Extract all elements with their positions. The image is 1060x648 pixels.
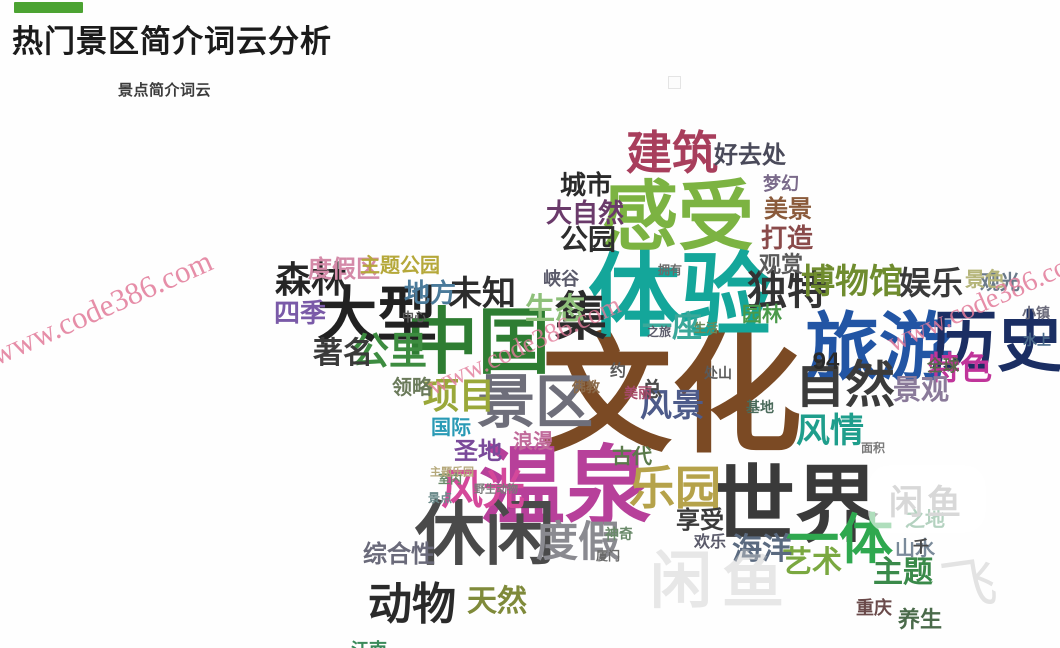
wordcloud-word[interactable]: 观赏 xyxy=(759,254,803,276)
accent-bar xyxy=(14,2,83,13)
wordcloud-word[interactable]: 城市 xyxy=(560,172,612,198)
wordcloud-word[interactable]: 面积 xyxy=(861,442,885,454)
wordcloud-word[interactable]: 天然 xyxy=(467,587,527,617)
wordcloud-word[interactable]: 乐园 xyxy=(629,465,721,511)
wordcloud-word[interactable]: 娱乐 xyxy=(899,267,963,299)
wordcloud-word[interactable]: 打造 xyxy=(761,225,813,251)
wordcloud-word[interactable]: 自然 xyxy=(795,360,895,410)
wordcloud-word[interactable]: 领略 xyxy=(392,378,432,398)
wordcloud-word[interactable]: 处山 xyxy=(704,366,732,380)
wordcloud-word[interactable]: 厦门 xyxy=(596,550,620,562)
wordcloud-word[interactable]: 古代 xyxy=(612,447,652,467)
wordcloud-word[interactable]: 水上 xyxy=(1023,333,1051,347)
wordcloud-word[interactable]: 项目 xyxy=(423,378,495,414)
wordcloud-word[interactable]: 野生动物 xyxy=(474,485,518,496)
wordcloud-word[interactable]: 建筑 xyxy=(626,130,718,176)
wordcloud-word[interactable]: 中心 xyxy=(402,311,426,323)
wordcloud-word[interactable]: 大自然 xyxy=(546,200,624,226)
legend-placeholder-box[interactable] xyxy=(668,76,681,89)
wordcloud-word[interactable]: 好去处 xyxy=(714,144,786,168)
wordcloud-word[interactable]: 生态 xyxy=(525,295,585,325)
wordcloud-word[interactable]: 神奇 xyxy=(605,527,633,541)
page-title: 热门景区简介词云分析 xyxy=(12,16,332,61)
wordcloud-word[interactable]: 主题 xyxy=(873,558,933,588)
wordcloud-word[interactable]: 国际 xyxy=(431,418,471,438)
wordcloud-word[interactable]: 养生 xyxy=(898,609,942,631)
wordcloud-word[interactable]: 著名 xyxy=(313,339,373,369)
wordcloud-word[interactable]: 浪漫 xyxy=(513,432,553,452)
wordcloud-word[interactable]: 欢乐 xyxy=(694,535,726,551)
wordcloud-word[interactable]: 感受 xyxy=(602,180,754,256)
wordcloud-word[interactable]: 基地 xyxy=(746,400,774,414)
wordcloud-word[interactable]: 之旅 xyxy=(647,326,671,338)
wordcloud-word[interactable]: 全球 xyxy=(927,359,959,375)
wordcloud-word[interactable]: 景点 xyxy=(428,492,452,504)
wordcloud-word[interactable]: 享受 xyxy=(676,509,724,533)
wordcloud-word[interactable]: 重庆 xyxy=(856,599,892,617)
wordcloud-word[interactable]: 佛教 xyxy=(572,380,600,394)
wordcloud-word[interactable]: 海洋 xyxy=(732,535,792,565)
wordcloud-word[interactable]: 公园 xyxy=(560,226,616,254)
wordcloud-word[interactable]: 主题乐园 xyxy=(430,468,474,479)
wordcloud-word[interactable]: 四季 xyxy=(274,300,326,326)
wordcloud-word[interactable]: 博物馆 xyxy=(801,265,903,299)
wordcloud-word[interactable]: 圣地 xyxy=(454,440,502,464)
wordcloud-page: 热门景区简介词云分析 景点简介词云 文化体验温泉世界感受旅游中国休闲历史大型景区… xyxy=(0,0,1060,648)
wordcloud-word[interactable]: 江南 xyxy=(351,641,387,648)
wordcloud-word[interactable]: 梦幻 xyxy=(763,175,799,193)
wordcloud-word[interactable]: 峡谷 xyxy=(543,270,579,288)
wordcloud-word[interactable]: 拥有 xyxy=(658,264,682,276)
wordcloud-word[interactable]: 景观 xyxy=(893,376,949,404)
wordcloud-word[interactable]: 千 xyxy=(913,540,929,556)
wordcloud-word[interactable]: 地方 xyxy=(404,280,456,306)
wordcloud-word[interactable]: 景色 xyxy=(965,270,1005,290)
wordcloud-word[interactable]: 动物 xyxy=(368,583,456,627)
wordcloud-word[interactable]: 约 xyxy=(610,364,626,380)
wordcloud-canvas[interactable]: 文化体验温泉世界感受旅游中国休闲历史大型景区一体自然集建筑乐园动物风光度假独特公… xyxy=(0,100,1060,648)
wordcloud-word[interactable]: 小镇 xyxy=(1022,306,1050,320)
wordcloud-word[interactable]: 综合性 xyxy=(363,543,435,567)
wordcloud-word[interactable]: 风情 xyxy=(796,414,864,448)
wordcloud-word[interactable]: 美景 xyxy=(764,198,812,222)
wordcloud-word[interactable]: 园林 xyxy=(742,305,782,325)
wordcloud-word[interactable]: 94 xyxy=(813,350,840,374)
wordcloud-word[interactable]: 之地 xyxy=(905,510,945,530)
wordcloud-word[interactable]: 生活 xyxy=(694,322,718,334)
chart-subtitle: 景点简介词云 xyxy=(118,79,211,100)
wordcloud-word[interactable]: 未知 xyxy=(448,277,516,311)
wordcloud-word[interactable]: 主题公园 xyxy=(360,256,440,276)
wordcloud-word[interactable]: 美丽 xyxy=(624,386,652,400)
